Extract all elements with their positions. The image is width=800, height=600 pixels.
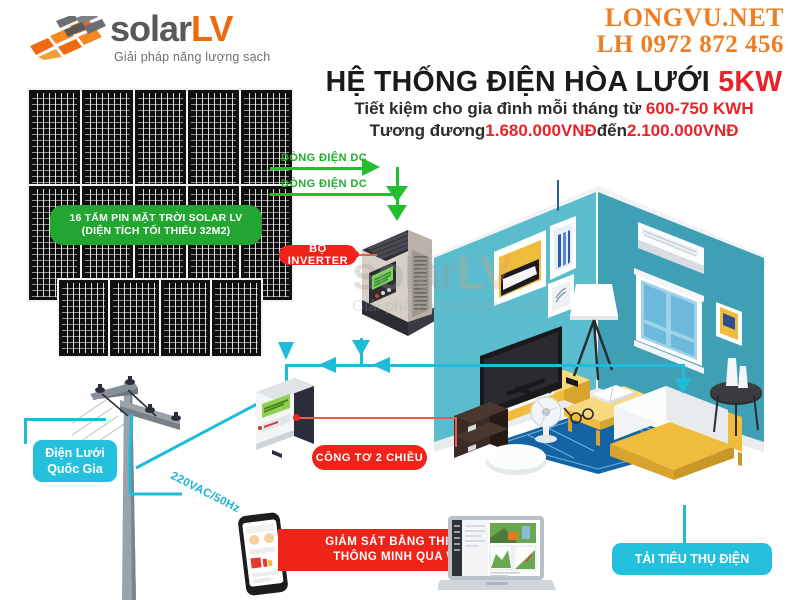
grid-label-badge: Điện Lưới Quốc Gia (33, 440, 117, 482)
meter-label-text: CÔNG TƠ 2 CHIỀU (316, 452, 424, 464)
inverter-label-badge: BỘ INVERTER (279, 245, 357, 265)
inverter-label-text: BỘ INVERTER (279, 243, 357, 267)
solar-panel (57, 278, 110, 358)
dc-current-label-1: DÒNG ĐIỆN DC (281, 152, 367, 164)
ac-arrow-left-2-icon (372, 357, 392, 375)
meter-leader-line (296, 417, 456, 419)
grid-leader-vertical (24, 418, 27, 444)
load-leader-line (683, 505, 686, 545)
logo-word-solar: solar (110, 8, 191, 49)
meter-leader-dot (293, 414, 300, 421)
solar-panel-logo-icon (28, 16, 106, 60)
ac-arrow-left-1-icon (318, 357, 338, 375)
headline-value-min: 1.680.000VNĐ (485, 121, 597, 140)
load-label-badge: TẢI TIÊU THỤ ĐIỆN (612, 543, 772, 575)
brand-website: LONGVU.NET (597, 4, 784, 31)
dc-current-label-2: DÒNG ĐIỆN DC (281, 178, 367, 190)
brand-logo: solarLV Giải pháp năng lượng sạch (28, 8, 288, 70)
solar-panel (159, 278, 212, 358)
solar-array-label: 16 TẤM PIN MẶT TRỜI SOLAR LV (DIỆN TÍCH … (50, 205, 262, 245)
ac-arrow-inverter-icon (352, 340, 372, 358)
headline-main: HỆ THỐNG ĐIỆN HÒA LƯỚI 5KW (315, 66, 793, 98)
dc-wire-2 (270, 193, 398, 196)
round-pouf (486, 444, 546, 475)
logo-word-lv: LV (191, 8, 232, 49)
load-label-text: TẢI TIÊU THỤ ĐIỆN (635, 551, 750, 567)
logo-wordmark: solarLV (110, 10, 232, 48)
ac-arrow-down-icon (278, 342, 296, 362)
solar-array-label-line2: (DIỆN TÍCH TỐI THIỂU 32M2) (82, 225, 231, 238)
headline-capacity: 5KW (718, 66, 782, 98)
headline-equivalent-mid: đến (597, 121, 627, 140)
brand-phone: LH 0972 872 456 (597, 31, 784, 59)
headline-value-max: 2.100.000VNĐ (627, 121, 739, 140)
inverter-leader-dot (352, 251, 359, 258)
grid-label-line1: Điện Lưới (45, 445, 105, 461)
meter-leader-vertical (455, 417, 457, 447)
headline-savings-kwh: 600-750 KWH (646, 99, 754, 118)
logo-tagline: Giải pháp năng lượng sạch (114, 50, 270, 64)
solar-panel (210, 278, 263, 358)
headline-equivalent-text: Tương đương (369, 121, 485, 140)
grid-leader-horizontal (24, 418, 106, 421)
solar-panel (108, 278, 161, 358)
laptop-device (438, 514, 556, 594)
ac-arrow-house-icon (675, 378, 693, 396)
dc-wire-1 (270, 167, 374, 170)
headline-main-text: HỆ THỐNG ĐIỆN HÒA LƯỚI (326, 66, 719, 98)
ac-wire-trunk (285, 364, 685, 367)
infographic-canvas: solarLV Giải pháp năng lượng sạch LONGVU… (0, 0, 800, 600)
house-room-illustration (398, 180, 798, 480)
headline-block: HỆ THỐNG ĐIỆN HÒA LƯỚI 5KW Tiết kiệm cho… (315, 66, 793, 142)
solar-array-label-line1: 16 TẤM PIN MẶT TRỜI SOLAR LV (69, 212, 242, 225)
headline-savings: Tiết kiệm cho gia đình mỗi tháng từ 600-… (315, 98, 793, 120)
meter-label-badge: CÔNG TƠ 2 CHIỀU (312, 445, 427, 470)
grid-label-line2: Quốc Gia (47, 461, 103, 477)
headline-equivalent: Tương đương1.680.000VNĐđến2.100.000VNĐ (315, 120, 793, 142)
headline-savings-text: Tiết kiệm cho gia đình mỗi tháng từ (354, 99, 646, 118)
brand-contact: LONGVU.NET LH 0972 872 456 (597, 4, 784, 59)
